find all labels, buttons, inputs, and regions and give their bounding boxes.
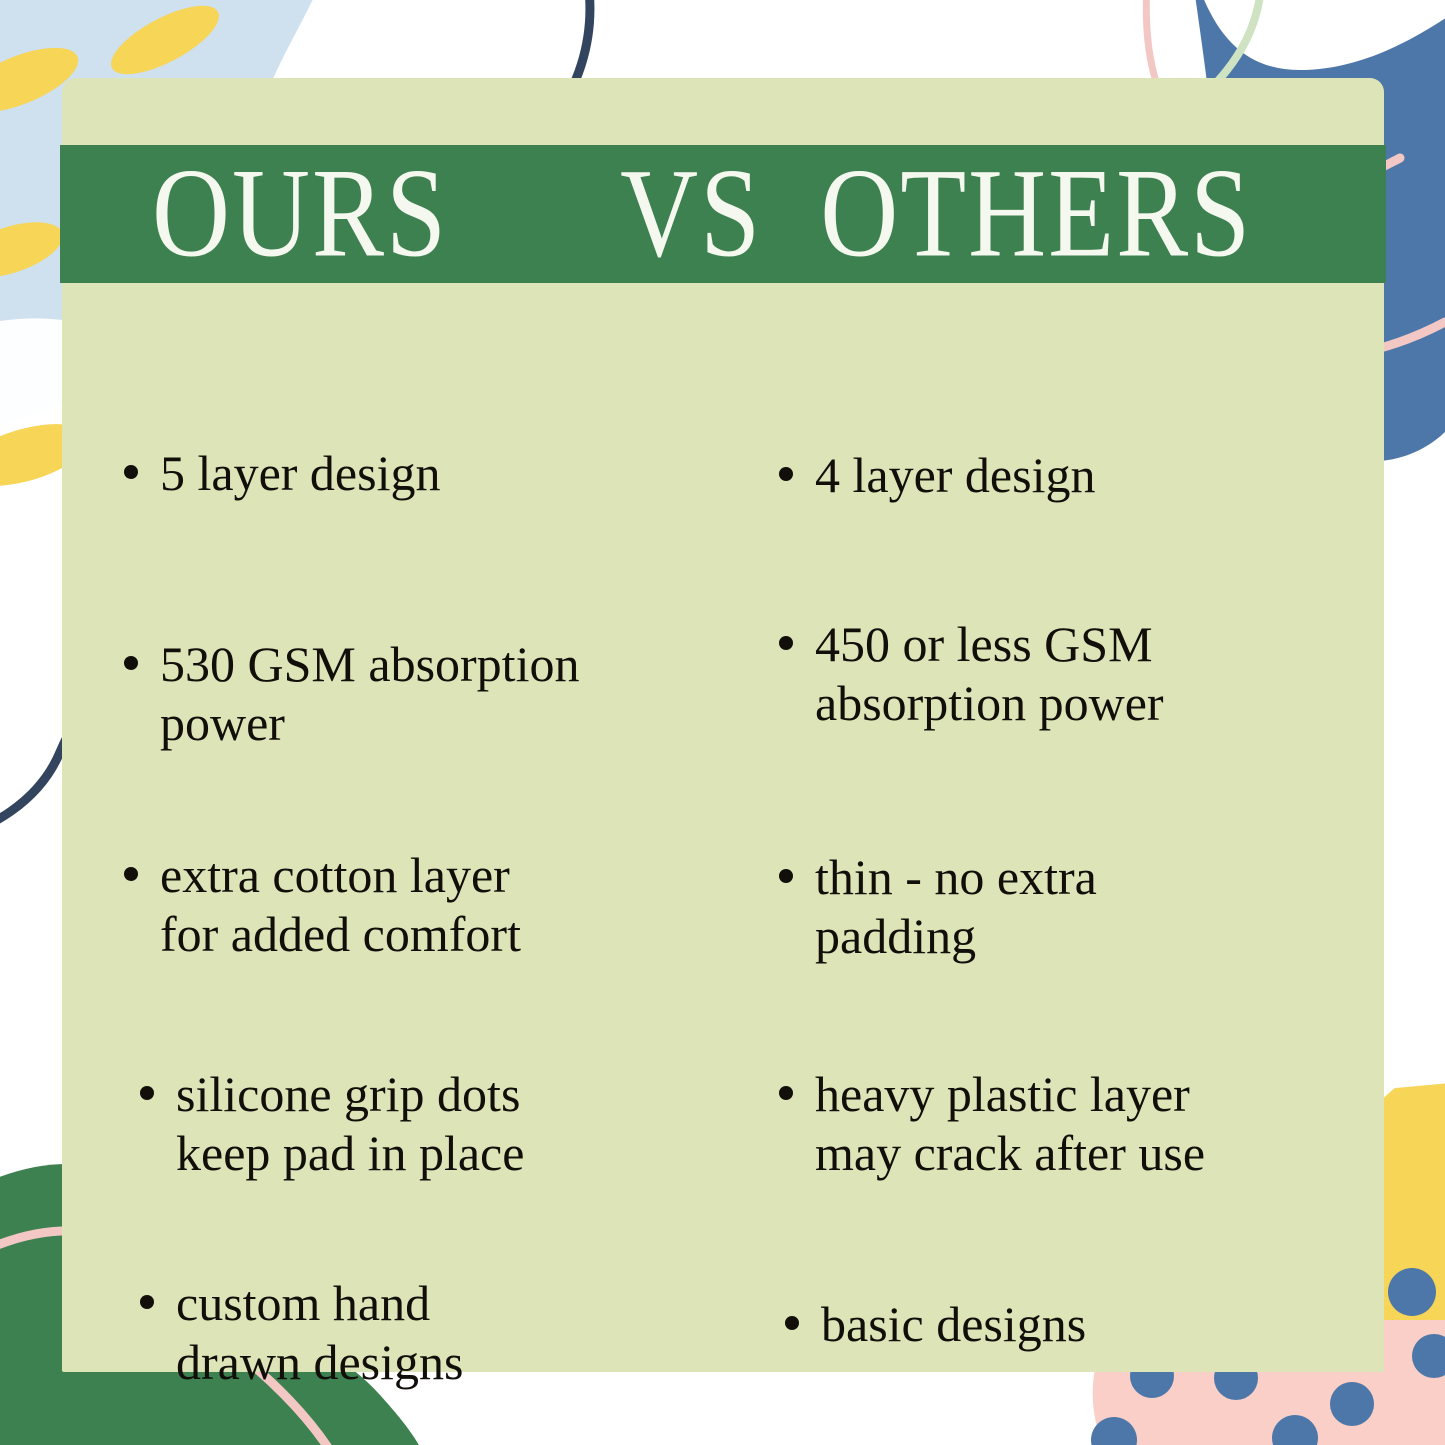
- list-item: custom hand drawn designs: [140, 1274, 705, 1392]
- page-title: OURS VS OTHERS: [60, 150, 1252, 277]
- bullet-icon: [779, 869, 793, 883]
- comparison-columns: 5 layer design 530 GSM absorption power …: [62, 310, 1384, 1350]
- bullet-icon: [124, 656, 138, 670]
- list-item-label: heavy plastic layer may crack after use: [815, 1065, 1205, 1183]
- bullet-icon: [779, 1086, 793, 1100]
- list-item-label: custom hand drawn designs: [176, 1274, 463, 1392]
- bullet-icon: [140, 1295, 154, 1309]
- list-item: 5 layer design: [124, 444, 705, 503]
- list-item-label: 530 GSM absorption power: [160, 635, 579, 753]
- list-item-label: basic designs: [821, 1295, 1086, 1354]
- comparison-card: OURS VS OTHERS 5 layer design 530 GSM ab…: [62, 78, 1384, 1372]
- list-item: heavy plastic layer may crack after use: [779, 1065, 1370, 1183]
- list-item: 450 or less GSM absorption power: [779, 615, 1370, 733]
- bullet-icon: [779, 636, 793, 650]
- bullet-icon: [124, 465, 138, 479]
- list-item-label: thin - no extra padding: [815, 848, 1097, 966]
- list-item: basic designs: [785, 1295, 1370, 1354]
- list-item-label: extra cotton layer for added comfort: [160, 846, 521, 964]
- bullet-icon: [785, 1316, 799, 1330]
- bullet-icon: [140, 1086, 154, 1100]
- ours-column: 5 layer design 530 GSM absorption power …: [62, 310, 723, 1350]
- list-item-label: 4 layer design: [815, 446, 1095, 505]
- list-item: silicone grip dots keep pad in place: [140, 1065, 705, 1183]
- list-item-label: silicone grip dots keep pad in place: [176, 1065, 524, 1183]
- infographic-canvas: OURS VS OTHERS 5 layer design 530 GSM ab…: [0, 0, 1445, 1445]
- list-item: extra cotton layer for added comfort: [124, 846, 705, 964]
- list-item: thin - no extra padding: [779, 848, 1370, 966]
- bullet-icon: [124, 867, 138, 881]
- list-item: 530 GSM absorption power: [124, 635, 705, 753]
- list-item-label: 450 or less GSM absorption power: [815, 615, 1164, 733]
- others-column: 4 layer design 450 or less GSM absorptio…: [723, 310, 1384, 1350]
- header-banner: OURS VS OTHERS: [60, 145, 1386, 283]
- list-item-label: 5 layer design: [160, 444, 440, 503]
- list-item: 4 layer design: [779, 446, 1370, 505]
- bullet-icon: [779, 467, 793, 481]
